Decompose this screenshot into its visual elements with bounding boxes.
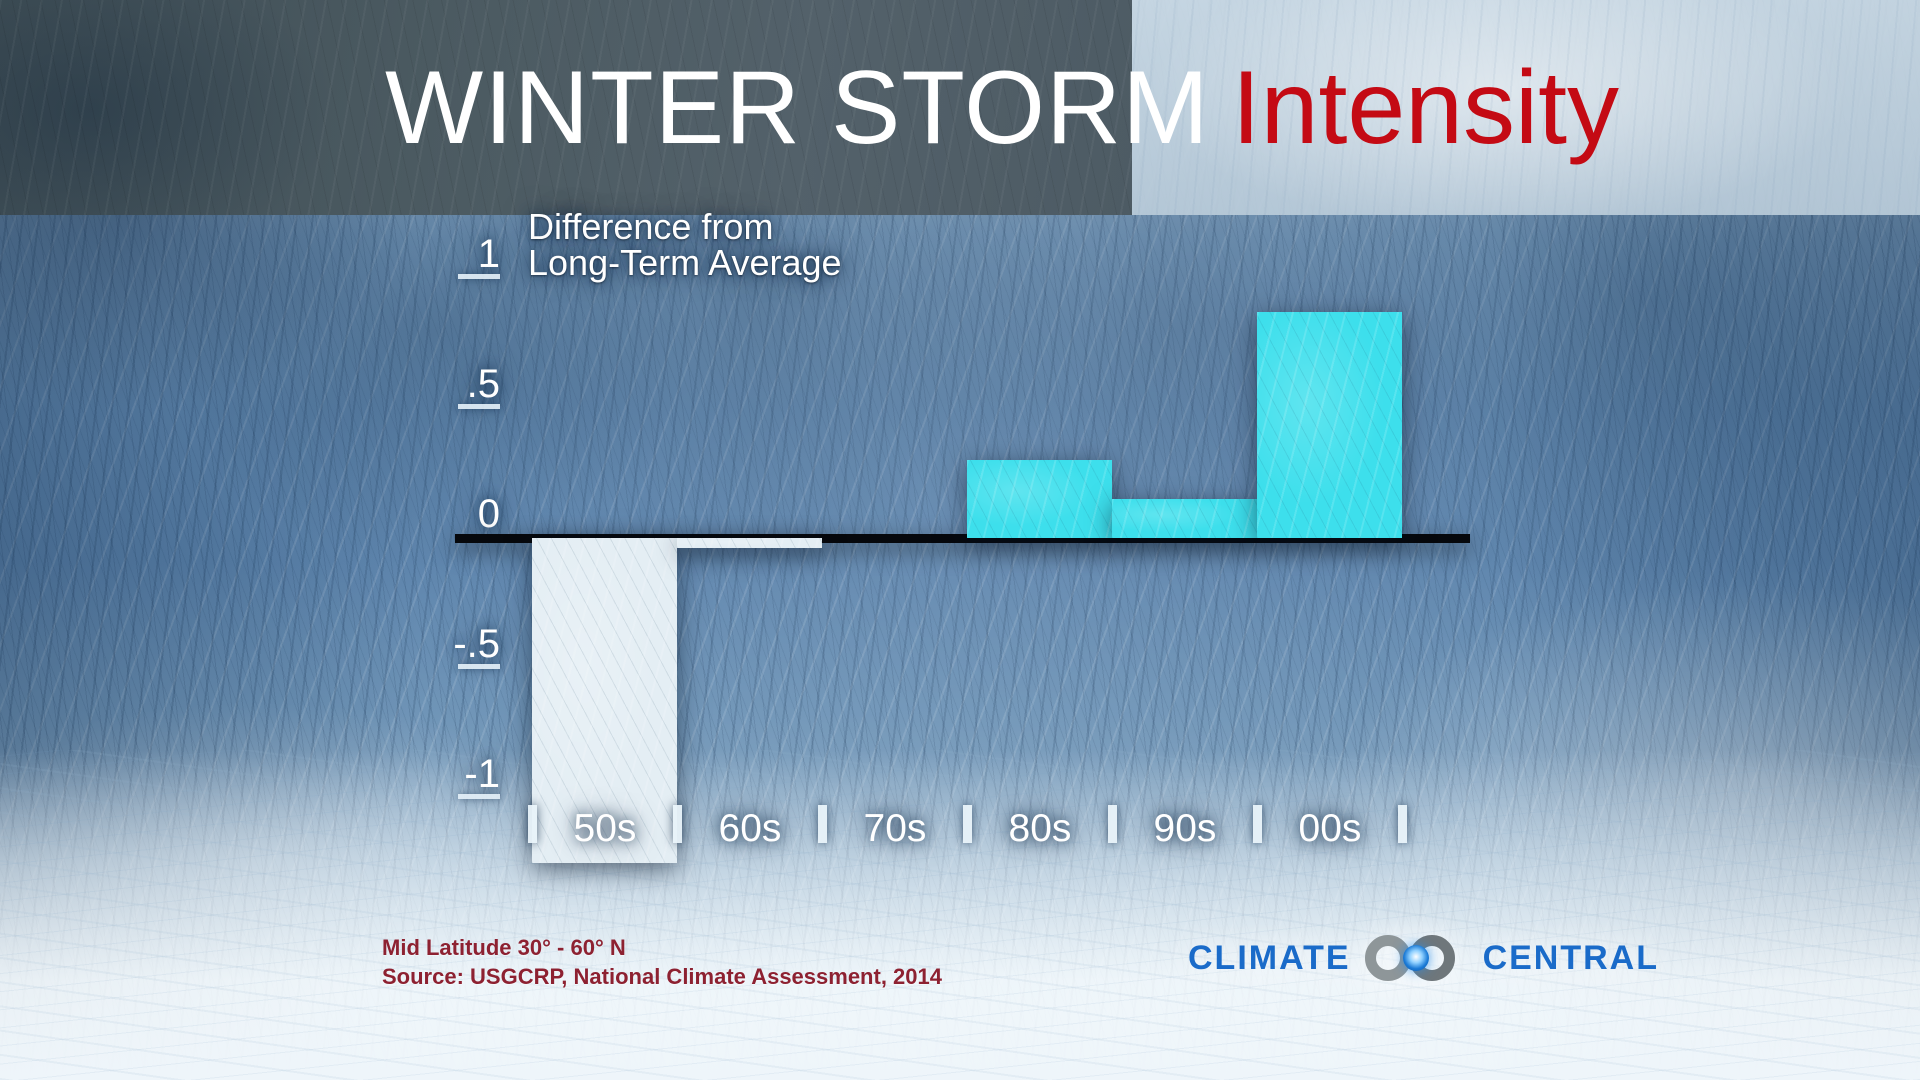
y-axis-tick-mark [458, 404, 500, 409]
logo-ring-core-glow [1403, 945, 1429, 971]
title-accent-text: Intensity [1232, 56, 1619, 160]
x-axis-label-60s: 60s [675, 807, 825, 851]
y-axis-tick-label: 0 [380, 492, 500, 537]
y-axis-tick-mark [458, 794, 500, 799]
bar-60s [677, 538, 822, 548]
footer-note-line1: Mid Latitude 30° - 60° N [382, 933, 942, 962]
bar-90s [1112, 499, 1257, 538]
bar-00s [1257, 312, 1402, 538]
logo-rings-icon [1365, 935, 1469, 981]
y-axis-tick-label: -1 [380, 752, 500, 797]
footer: Mid Latitude 30° - 60° N Source: USGCRP,… [0, 915, 1920, 1080]
x-axis-label-00s: 00s [1255, 807, 1405, 851]
title-main-text: WINTER STORM [385, 56, 1210, 160]
y-axis-tick-mark [458, 664, 500, 669]
y-axis-tick-label: .5 [380, 362, 500, 407]
bar-texture [1257, 312, 1402, 538]
y-axis-tick-mark [458, 274, 500, 279]
bar-texture [677, 538, 822, 548]
bar-80s [967, 460, 1112, 538]
bar-texture [1112, 499, 1257, 538]
bar-texture [967, 460, 1112, 538]
y-axis-tick-label: 1 [380, 232, 500, 277]
x-axis-label-70s: 70s [820, 807, 970, 851]
x-axis-label-80s: 80s [965, 807, 1115, 851]
x-axis-label-50s: 50s [530, 807, 680, 851]
climate-central-logo: CLIMATE CENTRAL [1188, 935, 1659, 981]
y-axis-tick-label: -.5 [380, 622, 500, 667]
bar-chart: Difference from Long-Term Average 1.50-.… [0, 215, 1920, 915]
logo-word-climate: CLIMATE [1188, 939, 1351, 978]
infographic-root: WINTER STORM Intensity Difference from L… [0, 0, 1920, 1080]
page-title: WINTER STORM Intensity [0, 0, 1920, 215]
footer-note-line2: Source: USGCRP, National Climate Assessm… [382, 962, 942, 991]
logo-word-central: CENTRAL [1483, 939, 1659, 978]
x-axis-label-90s: 90s [1110, 807, 1260, 851]
footer-note: Mid Latitude 30° - 60° N Source: USGCRP,… [382, 933, 942, 991]
y-axis-title-line2: Long-Term Average [528, 243, 842, 283]
